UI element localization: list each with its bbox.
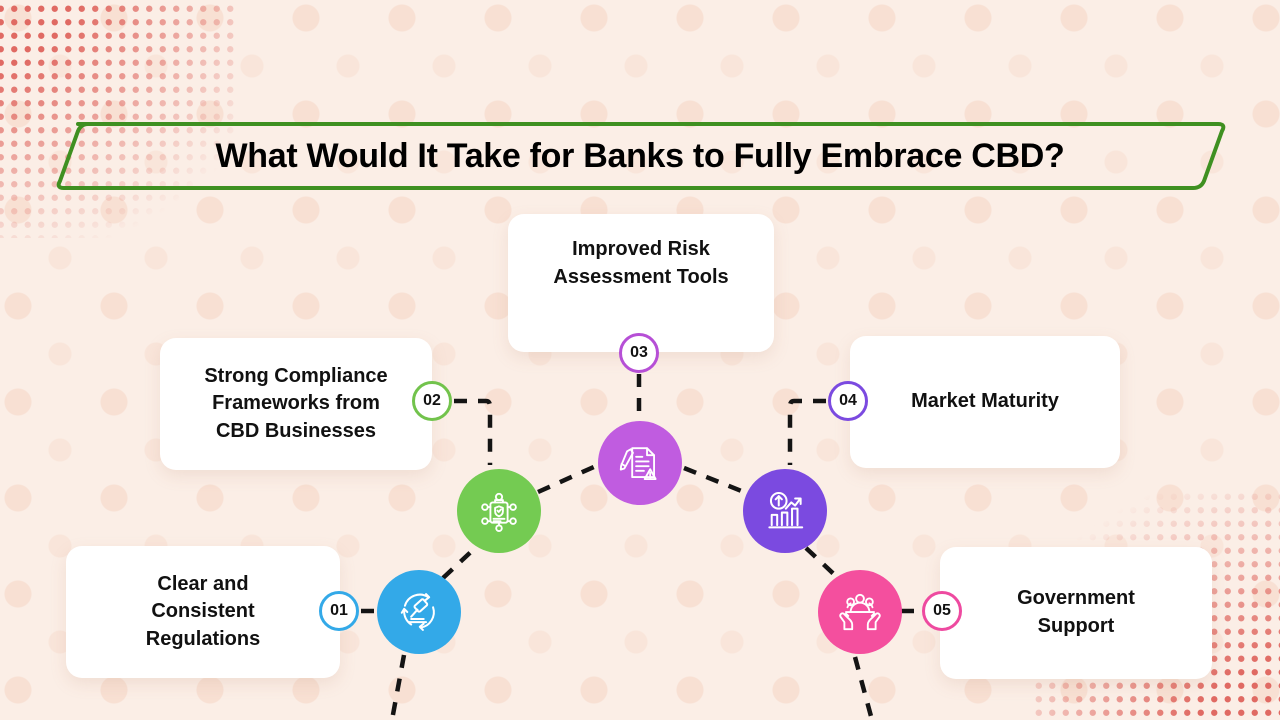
connector-node-01-to-02 (443, 549, 474, 578)
step-node-02[interactable] (457, 469, 541, 553)
step-card-03[interactable]: Improved Risk Assessment Tools (508, 214, 774, 352)
connector-badge-02 (454, 401, 490, 465)
gavel-recycle-icon (394, 587, 444, 637)
step-card-02[interactable]: Strong Compliance Frameworks from CBD Bu… (160, 338, 432, 470)
step-card-03-line-1: Improved Risk (572, 238, 710, 260)
step-node-05[interactable] (818, 570, 902, 654)
step-badge-02[interactable]: 02 (412, 381, 452, 421)
hands-support-people-icon (835, 587, 885, 637)
infographic-canvas: What Would It Take for Banks to Fully Em… (0, 0, 1280, 720)
step-card-02-line-2: Frameworks from (212, 392, 380, 414)
step-card-05-text: Government Support (1017, 585, 1135, 640)
step-card-01-line-1: Clear and (157, 573, 248, 595)
step-card-05[interactable]: Government Support (940, 547, 1212, 679)
step-card-04-text: Market Maturity (911, 388, 1059, 416)
step-badge-05[interactable]: 05 (922, 591, 962, 631)
connector-tail-left (392, 655, 404, 720)
step-card-01-text: Clear and Consistent Regulations (146, 571, 260, 654)
step-card-05-line-1: Government (1017, 587, 1135, 609)
step-card-01-line-2: Consistent (151, 600, 254, 622)
step-badge-04[interactable]: 04 (828, 381, 868, 421)
connector-badge-04 (790, 401, 826, 465)
step-node-01[interactable] (377, 570, 461, 654)
step-card-02-line-3: CBD Businesses (216, 420, 376, 442)
step-card-01-line-3: Regulations (146, 628, 260, 650)
step-card-02-line-1: Strong Compliance (204, 365, 387, 387)
title-banner: What Would It Take for Banks to Fully Em… (52, 120, 1228, 192)
step-node-04[interactable] (743, 469, 827, 553)
step-card-02-text: Strong Compliance Frameworks from CBD Bu… (204, 363, 387, 446)
connector-node-04-to-05 (806, 548, 838, 578)
page-title: What Would It Take for Banks to Fully Em… (52, 120, 1228, 192)
growth-bar-chart-icon (760, 486, 810, 536)
step-node-03[interactable] (598, 421, 682, 505)
clipboard-shield-network-icon (474, 486, 524, 536)
step-card-04-line-1: Market Maturity (911, 390, 1059, 412)
step-card-01[interactable]: Clear and Consistent Regulations (66, 546, 340, 678)
halftone-decoration-top-left (0, 0, 240, 238)
connector-tail-right (855, 657, 872, 720)
connector-node-02-to-03 (538, 466, 596, 492)
connector-node-03-to-04 (684, 468, 744, 492)
step-badge-03[interactable]: 03 (619, 333, 659, 373)
step-badge-01[interactable]: 01 (319, 591, 359, 631)
step-card-04[interactable]: Market Maturity (850, 336, 1120, 468)
step-card-03-text: Improved Risk Assessment Tools (553, 236, 728, 291)
document-pen-warning-icon (615, 438, 665, 488)
step-card-05-line-2: Support (1038, 615, 1115, 637)
step-card-03-line-2: Assessment Tools (553, 266, 728, 288)
